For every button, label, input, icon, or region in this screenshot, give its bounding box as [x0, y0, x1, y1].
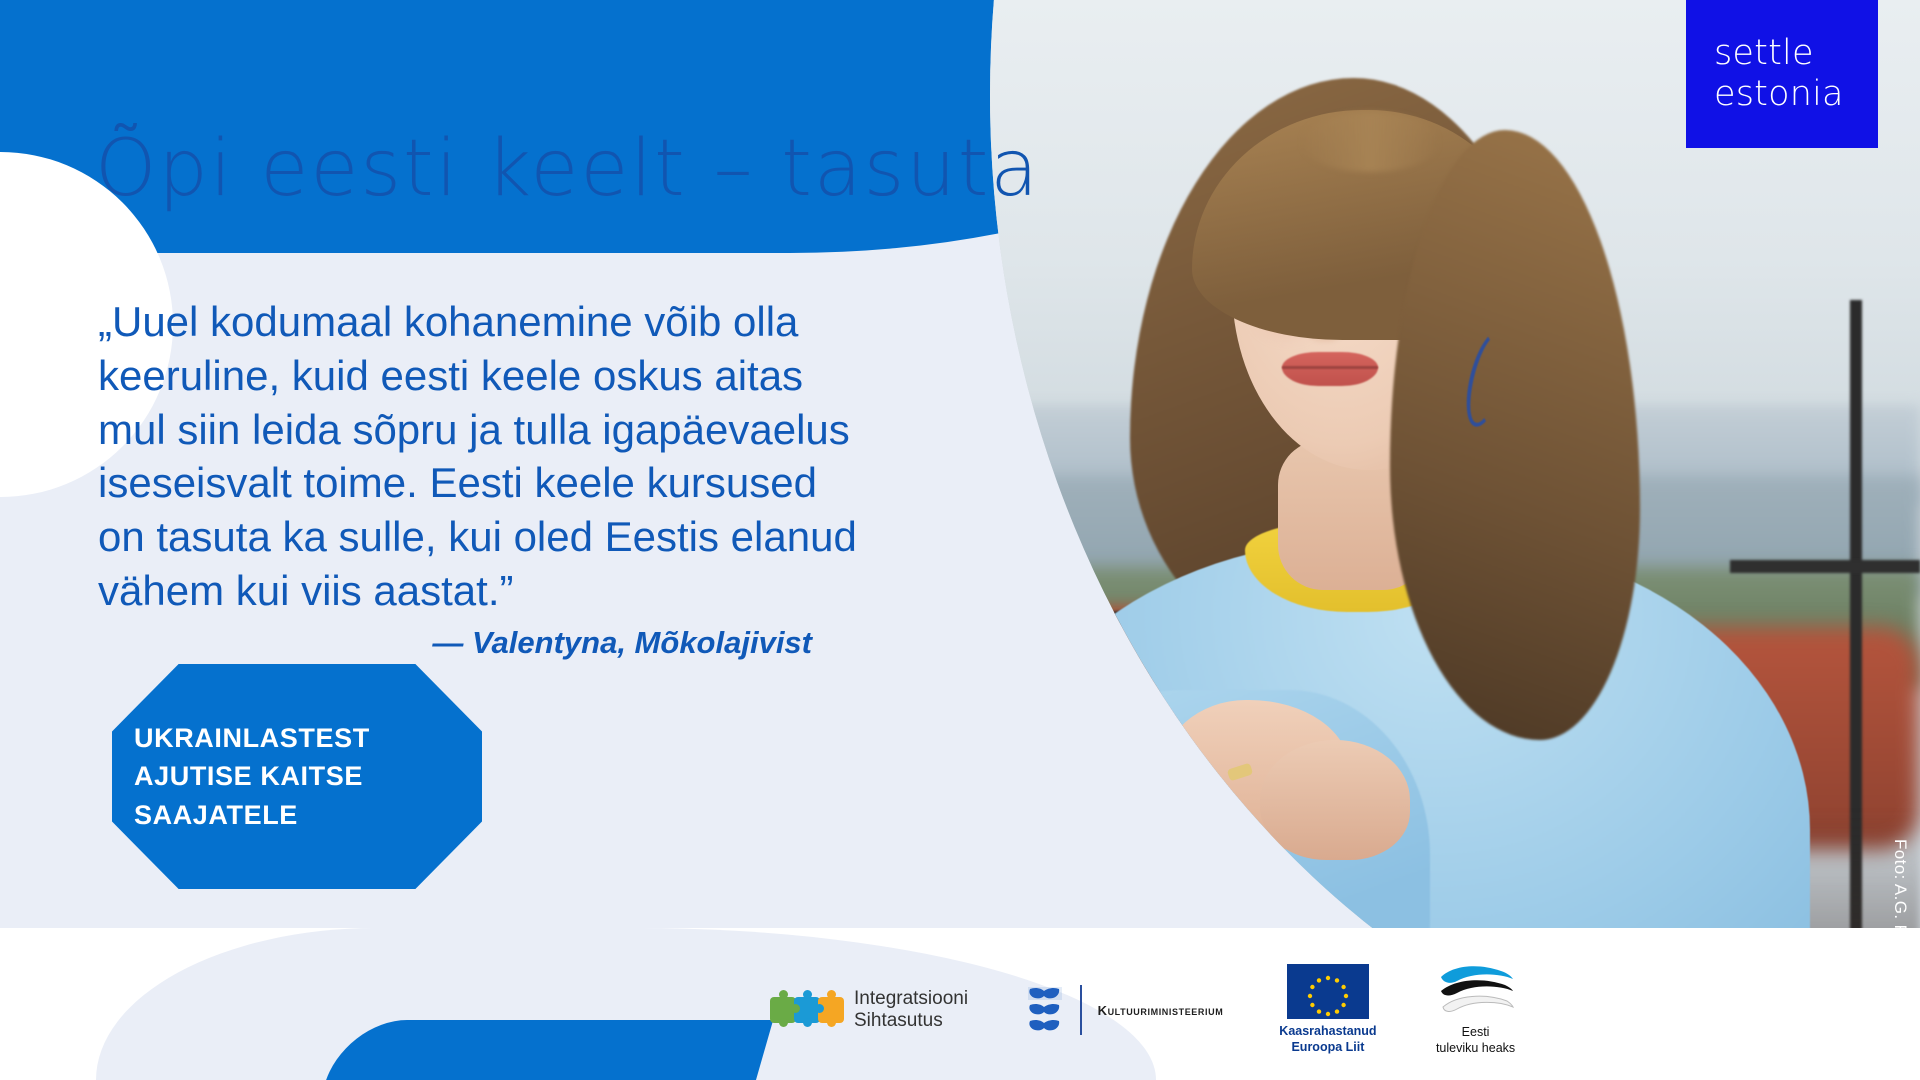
estonia-future-label: Eesti tuleviku heaks [1436, 1025, 1515, 1056]
puzzle-nub-7 [803, 1018, 812, 1027]
status-badge: UKRAINLASTEST AJUTISE KAITSE SAAJATELE [112, 664, 482, 889]
bottom-blue-accent [321, 1020, 773, 1080]
badge-line-1: UKRAINLASTEST [134, 719, 370, 757]
quote-text: „Uuel kodumaal kohanemine võib olla keer… [98, 295, 918, 618]
ministry-label: Kultuuriministeerium [1098, 1003, 1224, 1018]
puzzle-nub-3 [827, 990, 836, 999]
puzzle-nub-8 [827, 1018, 836, 1027]
integration-line-1: Integratsiooni [854, 988, 968, 1010]
quote-line: mul siin leida sõpru ja tulla igapäevael… [98, 403, 918, 457]
ministry-divider [1080, 985, 1082, 1035]
puzzle-nub-4 [791, 1004, 800, 1013]
puzzle-nub-1 [779, 990, 788, 999]
puzzle-nub-6 [779, 1018, 788, 1027]
ministry-of-culture-logo: Kultuuriministeerium [1024, 983, 1223, 1037]
logo-line-2: estonia [1714, 74, 1844, 115]
logo-line-1: settle [1714, 33, 1814, 74]
quote-line: vähem kui viis aastat.” [98, 564, 918, 618]
photo-rooftops-2 [830, 708, 1244, 870]
eu-cofunding-label: Kaasrahastanud Euroopa Liit [1279, 1024, 1376, 1055]
eu-line-1: Kaasrahastanud [1279, 1024, 1376, 1040]
puzzle-pieces-icon [770, 985, 844, 1035]
quote-line: keeruline, kuid eesti keele oskus aitas [98, 349, 918, 403]
figure-hand-right [1260, 740, 1410, 860]
page-title: Õpi eesti keelt – tasuta [95, 130, 1155, 208]
eu-flag-icon [1287, 964, 1369, 1019]
eu-line-2: Euroopa Liit [1279, 1040, 1376, 1056]
estonian-coat-of-arms-icon [1024, 983, 1066, 1037]
settle-estonia-logo[interactable]: settle estonia [1686, 0, 1878, 148]
estonia-future-logo: Eesti tuleviku heaks [1433, 963, 1519, 1056]
integration-line-2: Sihtasutus [854, 1010, 968, 1032]
quote-line: iseseisvalt toime. Eesti keele kursused [98, 456, 918, 510]
badge-line-2: AJUTISE KAITSE [134, 757, 370, 795]
integration-foundation-logo: Integratsiooni Sihtasutus [770, 985, 968, 1035]
puzzle-nub-2 [803, 990, 812, 999]
figure-hair-part [1300, 112, 1440, 172]
railing-rail-3 [1730, 560, 1920, 573]
estonia-future-line-1: Eesti [1436, 1025, 1515, 1041]
estonia-future-line-2: tuleviku heaks [1436, 1041, 1515, 1057]
figure-lips [1282, 352, 1378, 386]
footer-logo-row: Integratsiooni Sihtasutus Kultuuriminist… [770, 962, 1470, 1058]
quote-line: on tasuta ka sulle, kui oled Eestis elan… [98, 510, 918, 564]
integration-foundation-label: Integratsiooni Sihtasutus [854, 988, 968, 1033]
estonian-flag-wave-icon [1433, 963, 1519, 1021]
figure-lip-line [1282, 366, 1378, 369]
railing-rail-2 [830, 824, 1130, 867]
eu-cofunding-logo: Kaasrahastanud Euroopa Liit [1279, 964, 1376, 1055]
poster-canvas: Foto: A.G. Foto OÜ settle estonia Õpi ee… [0, 0, 1920, 1080]
quote-line: „Uuel kodumaal kohanemine võib olla [98, 295, 918, 349]
badge-line-3: SAAJATELE [134, 796, 370, 834]
quote-attribution: — Valentyna, Mõkolajivist [98, 625, 898, 661]
puzzle-nub-5 [815, 1004, 824, 1013]
badge-text: UKRAINLASTEST AJUTISE KAITSE SAAJATELE [112, 719, 370, 834]
